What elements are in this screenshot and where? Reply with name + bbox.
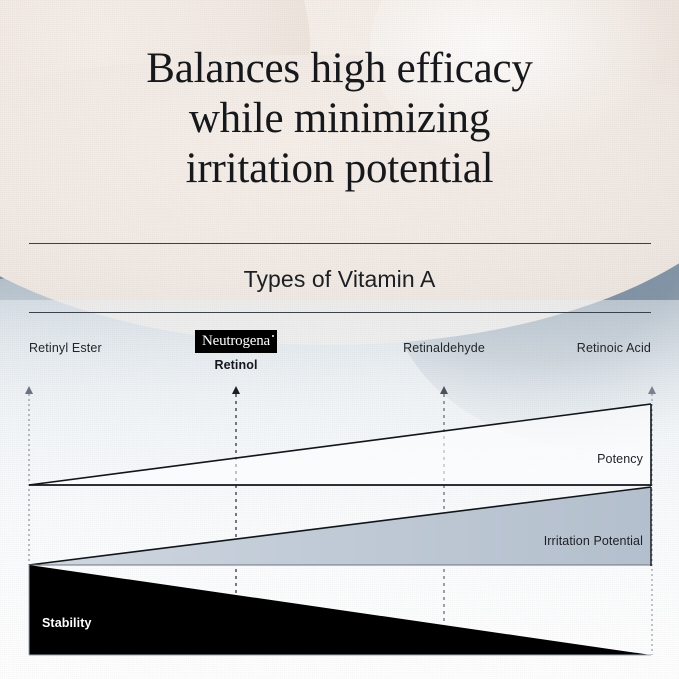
divider-top: [29, 243, 651, 244]
infographic-canvas: Balances high efficacy while minimizing …: [0, 0, 679, 679]
category-label-retinoic-acid: Retinoic Acid: [577, 341, 651, 355]
brand-callout-retinol: Neutrogena Retinol: [156, 330, 316, 372]
neutrogena-logo: Neutrogena: [195, 330, 277, 353]
chart-label-irritation-potential: Irritation Potential: [544, 534, 651, 548]
headline-line-2: while minimizing: [0, 94, 679, 144]
page-headline: Balances high efficacy while minimizing …: [0, 44, 679, 194]
category-label-retinol: Retinol: [156, 358, 316, 372]
chart-label-potency: Potency: [597, 452, 651, 466]
headline-line-3: irritation potential: [0, 144, 679, 194]
section-title: Types of Vitamin A: [0, 266, 679, 293]
divider-bottom: [29, 312, 651, 313]
chart-label-stability: Stability: [42, 616, 92, 630]
headline-line-1: Balances high efficacy: [0, 44, 679, 94]
category-label-retinaldehyde: Retinaldehyde: [403, 341, 485, 355]
category-label-retinyl-ester: Retinyl Ester: [29, 341, 102, 355]
